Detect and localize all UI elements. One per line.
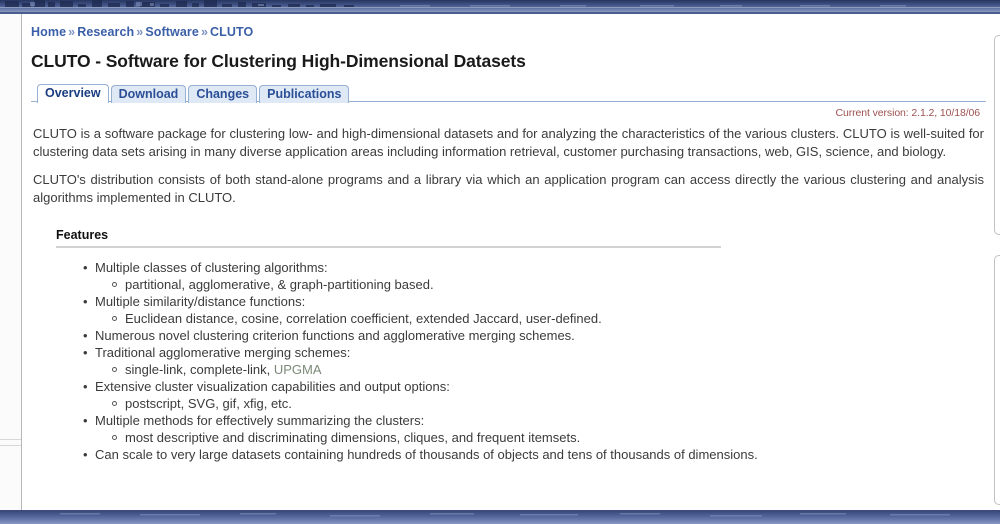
intro-paragraph-1: CLUTO is a software package for clusteri… <box>33 125 984 160</box>
features-sublist: single-link, complete-link, UPGMA <box>95 361 986 378</box>
sub-bullet-icon <box>112 367 117 372</box>
list-item: most descriptive and discriminating dime… <box>125 429 986 446</box>
list-item: •Traditional agglomerative merging schem… <box>95 344 986 378</box>
list-item: •Multiple methods for effectively summar… <box>95 412 986 446</box>
bullet-icon: • <box>83 327 88 344</box>
tab-overview[interactable]: Overview <box>37 84 109 103</box>
skyline-banner-icon <box>0 510 1000 524</box>
features-heading: Features <box>56 228 986 242</box>
bullet-icon: • <box>83 259 88 276</box>
breadcrumb-item-cluto[interactable]: CLUTO <box>210 25 253 39</box>
breadcrumb-separator: » <box>134 25 145 39</box>
feature-text: Multiple methods for effectively summari… <box>95 413 424 428</box>
tab-bar: OverviewDownloadChangesPublications <box>31 83 986 102</box>
breadcrumb-separator: » <box>199 25 210 39</box>
list-item: •Numerous novel clustering criterion fun… <box>95 327 986 344</box>
features-sublist: partitional, agglomerative, & graph-part… <box>95 276 986 293</box>
feature-text: Can scale to very large datasets contain… <box>95 447 758 462</box>
breadcrumb-item-research[interactable]: Research <box>77 25 134 39</box>
bullet-icon: • <box>83 446 88 463</box>
list-item: single-link, complete-link, UPGMA <box>125 361 986 378</box>
features-sublist: Euclidean distance, cosine, correlation … <box>95 310 986 327</box>
bullet-icon: • <box>83 344 88 361</box>
list-item: Euclidean distance, cosine, correlation … <box>125 310 986 327</box>
rail-divider-bottom <box>0 445 21 446</box>
list-item: postscript, SVG, gif, xfig, etc. <box>125 395 986 412</box>
upgma-link[interactable]: UPGMA <box>274 362 322 377</box>
breadcrumb: Home»Research»Software»CLUTO <box>31 25 986 39</box>
list-item: •Multiple similarity/distance functions:… <box>95 293 986 327</box>
tab-changes[interactable]: Changes <box>188 85 257 103</box>
bullet-icon: • <box>83 412 88 429</box>
feature-text: Multiple classes of clustering algorithm… <box>95 260 328 275</box>
bullet-icon: • <box>83 293 88 310</box>
features-divider <box>56 246 721 248</box>
feature-subtext: partitional, agglomerative, & graph-part… <box>125 277 434 292</box>
list-item: partitional, agglomerative, & graph-part… <box>125 276 986 293</box>
features-sublist: most descriptive and discriminating dime… <box>95 429 986 446</box>
feature-text: Numerous novel clustering criterion func… <box>95 328 575 343</box>
intro-paragraph-2: CLUTO's distribution consists of both st… <box>33 171 984 206</box>
skyline-banner-icon <box>0 0 1000 14</box>
feature-subtext: postscript, SVG, gif, xfig, etc. <box>125 396 292 411</box>
sub-bullet-icon <box>112 316 117 321</box>
main-content: Home»Research»Software»CLUTO CLUTO - Sof… <box>23 14 994 510</box>
features-sublist: postscript, SVG, gif, xfig, etc. <box>95 395 986 412</box>
sub-bullet-icon <box>112 435 117 440</box>
feature-subtext-upgma: single-link, complete-link, UPGMA <box>125 362 322 377</box>
rail-divider-top <box>0 439 21 440</box>
breadcrumb-separator: » <box>66 25 77 39</box>
features-list: •Multiple classes of clustering algorith… <box>47 259 986 463</box>
tab-download[interactable]: Download <box>111 85 187 103</box>
sub-bullet-icon <box>112 401 117 406</box>
page-title: CLUTO - Software for Clustering High-Dim… <box>31 51 986 72</box>
feature-text: Traditional agglomerative merging scheme… <box>95 345 350 360</box>
right-side-panel-upper <box>994 35 1000 235</box>
top-banner <box>0 0 1000 14</box>
bottom-banner <box>0 510 1000 524</box>
list-item: •Multiple classes of clustering algorith… <box>95 259 986 293</box>
left-sidebar-rail <box>0 14 22 510</box>
version-note: Current version: 2.1.2, 10/18/06 <box>29 107 980 119</box>
feature-text: Multiple similarity/distance functions: <box>95 294 305 309</box>
breadcrumb-item-software[interactable]: Software <box>145 25 199 39</box>
feature-subtext: Euclidean distance, cosine, correlation … <box>125 311 602 326</box>
list-item: •Can scale to very large datasets contai… <box>95 446 986 463</box>
features-section: Features •Multiple classes of clustering… <box>47 228 986 463</box>
breadcrumb-item-home[interactable]: Home <box>31 25 66 39</box>
feature-subtext: most descriptive and discriminating dime… <box>125 430 580 445</box>
right-side-panel-lower <box>994 255 1000 505</box>
list-item: •Extensive cluster visualization capabil… <box>95 378 986 412</box>
sub-bullet-icon <box>112 282 117 287</box>
feature-text: Extensive cluster visualization capabili… <box>95 379 450 394</box>
bullet-icon: • <box>83 378 88 395</box>
tab-publications[interactable]: Publications <box>259 85 349 103</box>
